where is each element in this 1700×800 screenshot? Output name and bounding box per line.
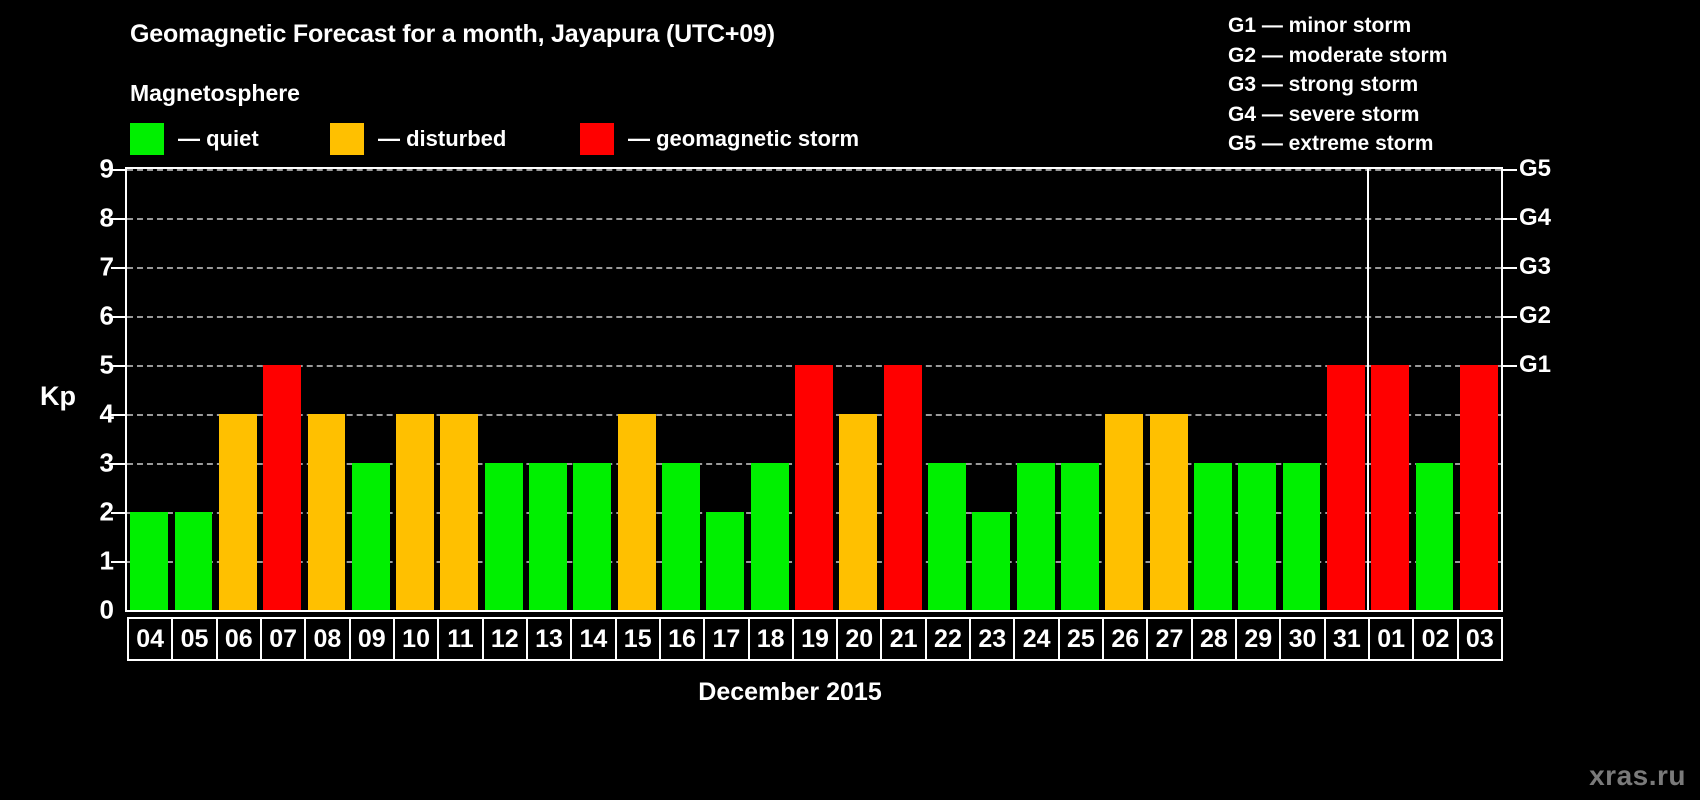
bar-day-11[interactable]: [440, 414, 478, 610]
bar-day-16[interactable]: [662, 463, 700, 610]
day-label-15[interactable]: 15: [615, 617, 661, 661]
gscale-legend-line-5: G5 — extreme storm: [1228, 129, 1447, 159]
bar-day-20[interactable]: [839, 414, 877, 610]
plot-area: [125, 167, 1503, 612]
y-tick-mark-7: [111, 267, 125, 269]
day-label-16[interactable]: 16: [659, 617, 705, 661]
g-tick-mark-G3: [1503, 267, 1517, 269]
bar-day-14[interactable]: [573, 463, 611, 610]
y-tick-label-7: 7: [74, 252, 114, 283]
bar-day-12[interactable]: [485, 463, 523, 610]
y-tick-mark-6: [111, 316, 125, 318]
y-axis-title: Kp: [40, 381, 76, 412]
bar-day-24[interactable]: [1017, 463, 1055, 610]
y-tick-mark-3: [111, 463, 125, 465]
day-label-22[interactable]: 22: [925, 617, 971, 661]
bars-layer: [127, 169, 1501, 610]
day-label-06[interactable]: 06: [216, 617, 262, 661]
x-axis-day-labels: 0405060708091011121314151617181920212223…: [125, 617, 1503, 661]
day-label-30[interactable]: 30: [1279, 617, 1325, 661]
bar-day-07[interactable]: [263, 365, 301, 610]
y-tick-label-8: 8: [74, 203, 114, 234]
day-label-04[interactable]: 04: [127, 617, 173, 661]
x-axis-title-text: December 2015: [698, 678, 881, 707]
bar-day-02[interactable]: [1416, 463, 1454, 610]
day-label-11[interactable]: 11: [437, 617, 483, 661]
day-label-08[interactable]: 08: [304, 617, 350, 661]
watermark: xras.ru: [1589, 760, 1686, 792]
day-label-07[interactable]: 07: [260, 617, 306, 661]
legend-item-storm: — geomagnetic storm: [580, 122, 859, 156]
day-label-28[interactable]: 28: [1191, 617, 1237, 661]
day-label-10[interactable]: 10: [393, 617, 439, 661]
day-label-02[interactable]: 02: [1412, 617, 1458, 661]
bar-day-21[interactable]: [884, 365, 922, 610]
bar-day-19[interactable]: [795, 365, 833, 610]
y-tick-label-3: 3: [74, 448, 114, 479]
y-tick-label-1: 1: [74, 546, 114, 577]
y-tick-mark-8: [111, 218, 125, 220]
y-tick-label-4: 4: [74, 399, 114, 430]
day-label-14[interactable]: 14: [570, 617, 616, 661]
day-label-29[interactable]: 29: [1235, 617, 1281, 661]
y-tick-mark-9: [111, 169, 125, 171]
plot-inner: [127, 169, 1501, 610]
day-label-23[interactable]: 23: [969, 617, 1015, 661]
g-tick-mark-G1: [1503, 365, 1517, 367]
bar-day-10[interactable]: [396, 414, 434, 610]
gscale-legend-line-3: G3 — strong storm: [1228, 70, 1447, 100]
day-label-05[interactable]: 05: [171, 617, 217, 661]
bar-day-15[interactable]: [618, 414, 656, 610]
g-tick-label-G1: G1: [1519, 351, 1551, 379]
bar-day-06[interactable]: [219, 414, 257, 610]
chart-root: Geomagnetic Forecast for a month, Jayapu…: [0, 0, 1700, 800]
day-label-03[interactable]: 03: [1457, 617, 1503, 661]
g-tick-mark-G2: [1503, 316, 1517, 318]
bar-day-17[interactable]: [706, 512, 744, 610]
bar-day-29[interactable]: [1238, 463, 1276, 610]
y-tick-label-2: 2: [74, 497, 114, 528]
y-tick-label-0: 0: [74, 595, 114, 626]
day-label-13[interactable]: 13: [526, 617, 572, 661]
bar-day-22[interactable]: [928, 463, 966, 610]
g-tick-mark-G5: [1503, 169, 1517, 171]
legend-swatch-quiet: [130, 123, 164, 155]
g-tick-label-G5: G5: [1519, 155, 1551, 183]
y-tick-mark-1: [111, 561, 125, 563]
y-tick-mark-5: [111, 365, 125, 367]
day-label-26[interactable]: 26: [1102, 617, 1148, 661]
gscale-legend-line-1: G1 — minor storm: [1228, 11, 1447, 41]
bar-day-05[interactable]: [175, 512, 213, 610]
y-tick-label-9: 9: [74, 154, 114, 185]
bar-day-18[interactable]: [751, 463, 789, 610]
day-label-24[interactable]: 24: [1013, 617, 1059, 661]
bar-day-30[interactable]: [1283, 463, 1321, 610]
bar-day-27[interactable]: [1150, 414, 1188, 610]
bar-day-08[interactable]: [308, 414, 346, 610]
bar-day-03[interactable]: [1460, 365, 1498, 610]
day-label-27[interactable]: 27: [1146, 617, 1192, 661]
y-tick-label-5: 5: [74, 350, 114, 381]
month-divider: [1367, 169, 1369, 610]
legend-label-disturbed: — disturbed: [378, 126, 506, 152]
g-tick-label-G2: G2: [1519, 302, 1551, 330]
bar-day-09[interactable]: [352, 463, 390, 610]
gscale-legend-line-4: G4 — severe storm: [1228, 100, 1447, 130]
legend-label-quiet: — quiet: [178, 126, 259, 152]
y-tick-mark-2: [111, 512, 125, 514]
y-tick-mark-4: [111, 414, 125, 416]
gscale-legend: G1 — minor stormG2 — moderate stormG3 — …: [1228, 11, 1447, 159]
day-label-01[interactable]: 01: [1368, 617, 1414, 661]
legend-label-storm: — geomagnetic storm: [628, 126, 859, 152]
legend-item-quiet: — quiet: [130, 122, 259, 156]
bar-day-04[interactable]: [130, 512, 168, 610]
bar-day-28[interactable]: [1194, 463, 1232, 610]
day-label-20[interactable]: 20: [836, 617, 882, 661]
bar-day-25[interactable]: [1061, 463, 1099, 610]
bar-day-26[interactable]: [1105, 414, 1143, 610]
page-title: Geomagnetic Forecast for a month, Jayapu…: [130, 20, 775, 49]
gscale-legend-line-2: G2 — moderate storm: [1228, 41, 1447, 71]
day-label-18[interactable]: 18: [748, 617, 794, 661]
g-tick-mark-G4: [1503, 218, 1517, 220]
day-label-19[interactable]: 19: [792, 617, 838, 661]
bar-day-31[interactable]: [1327, 365, 1365, 610]
g-tick-label-G3: G3: [1519, 253, 1551, 281]
legend-swatch-storm: [580, 123, 614, 155]
bar-day-23[interactable]: [972, 512, 1010, 610]
y-tick-label-6: 6: [74, 301, 114, 332]
day-label-21[interactable]: 21: [880, 617, 926, 661]
day-label-09[interactable]: 09: [349, 617, 395, 661]
legend-item-disturbed: — disturbed: [330, 122, 506, 156]
day-label-31[interactable]: 31: [1324, 617, 1370, 661]
x-axis-title: December 2015: [0, 678, 1700, 707]
day-label-25[interactable]: 25: [1058, 617, 1104, 661]
bar-day-01[interactable]: [1371, 365, 1409, 610]
legend-heading: Magnetosphere: [130, 80, 300, 107]
day-label-12[interactable]: 12: [482, 617, 528, 661]
bar-day-13[interactable]: [529, 463, 567, 610]
day-label-17[interactable]: 17: [703, 617, 749, 661]
g-tick-label-G4: G4: [1519, 204, 1551, 232]
legend-swatch-disturbed: [330, 123, 364, 155]
